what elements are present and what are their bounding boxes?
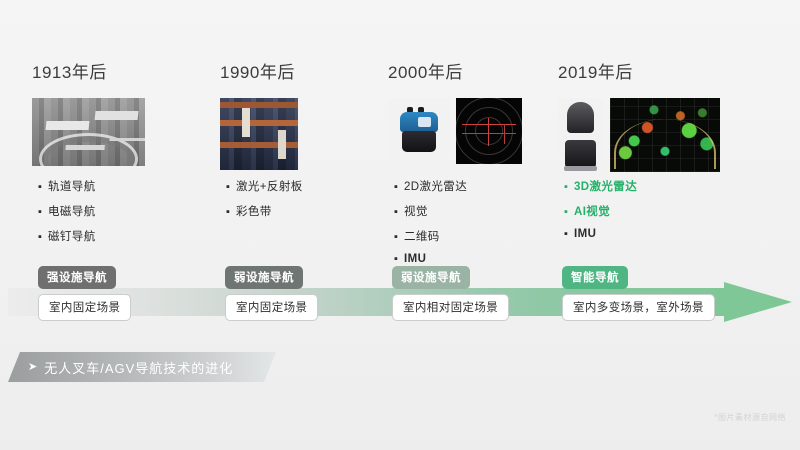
bullet-marker-icon: ▪ (394, 182, 404, 193)
section-banner: ➤ 无人叉车/AGV导航技术的进化 (8, 352, 276, 382)
list-item: ▪ 激光+反射板 (226, 178, 303, 194)
status-badge: 强设施导航 (38, 266, 116, 289)
column-bullet-list: ▪ 3D激光雷达 ▪ AI视觉 ▪ IMU (564, 178, 637, 249)
list-item: ▪ 磁钉导航 (38, 228, 96, 244)
list-item-label: 轨道导航 (48, 178, 96, 194)
bullet-marker-icon: ▪ (564, 207, 574, 218)
list-item: ▪ IMU (394, 253, 467, 265)
list-item: ▪ 3D激光雷达 (564, 178, 637, 194)
list-item-label: AI视觉 (574, 203, 610, 219)
bullet-marker-icon: ▪ (564, 182, 574, 193)
list-item: ▪ IMU (564, 228, 637, 240)
list-item: ▪ AI视觉 (564, 203, 637, 219)
list-item-label: 彩色带 (236, 203, 272, 219)
list-item: ▪ 彩色带 (226, 203, 303, 219)
bullet-marker-icon: ▪ (38, 182, 48, 193)
bullet-marker-icon: ▪ (226, 182, 236, 193)
image-credit-footnote: *图片素材源自网络 (714, 412, 786, 423)
scene-label: 室内多变场景，室外场景 (562, 294, 715, 321)
column-bullet-list: ▪ 轨道导航 ▪ 电磁导航 ▪ 磁钉导航 (38, 178, 96, 253)
list-item-label: 电磁导航 (48, 203, 96, 219)
bullet-marker-icon: ▪ (394, 254, 404, 265)
list-item: ▪ 2D激光雷达 (394, 178, 467, 194)
list-item-label: 二维码 (404, 228, 440, 244)
list-item-label: 3D激光雷达 (574, 178, 637, 194)
list-item: ▪ 视觉 (394, 203, 467, 219)
bullet-marker-icon: ▪ (394, 232, 404, 243)
list-item: ▪ 电磁导航 (38, 203, 96, 219)
list-item-label: IMU (574, 228, 596, 240)
scene-label: 室内固定场景 (38, 294, 131, 321)
bullet-marker-icon: ▪ (226, 207, 236, 218)
stage-tag-group: 强设施导航 室内固定场景 弱设施导航 室内固定场景 弱设施导航 室内相对固定场景… (0, 0, 800, 168)
bullet-marker-icon: ▪ (38, 232, 48, 243)
list-item-label: 磁钉导航 (48, 228, 96, 244)
stage-tag-2000: 弱设施导航 室内相对固定场景 (392, 266, 509, 321)
scene-label: 室内相对固定场景 (392, 294, 509, 321)
list-item: ▪ 轨道导航 (38, 178, 96, 194)
status-badge: 智能导航 (562, 266, 628, 289)
list-item-label: 视觉 (404, 203, 428, 219)
column-bullet-list: ▪ 2D激光雷达 ▪ 视觉 ▪ 二维码 ▪ IMU (394, 178, 467, 274)
slide-canvas: 1913年后 ▪ 轨道导航 ▪ 电磁导航 ▪ 磁钉导航 (0, 0, 800, 450)
arrow-right-icon: ➤ (28, 362, 37, 373)
bullet-marker-icon: ▪ (394, 207, 404, 218)
stage-tag-1913: 强设施导航 室内固定场景 (38, 266, 131, 321)
column-bullet-list: ▪ 激光+反射板 ▪ 彩色带 (226, 178, 303, 228)
stage-tag-1990: 弱设施导航 室内固定场景 (225, 266, 318, 321)
list-item-label: IMU (404, 253, 426, 265)
list-item-label: 2D激光雷达 (404, 178, 467, 194)
status-badge: 弱设施导航 (225, 266, 303, 289)
list-item-label: 激光+反射板 (236, 178, 303, 194)
scene-label: 室内固定场景 (225, 294, 318, 321)
banner-title: 无人叉车/AGV导航技术的进化 (44, 358, 233, 377)
stage-tag-2019: 智能导航 室内多变场景，室外场景 (562, 266, 715, 321)
bullet-marker-icon: ▪ (38, 207, 48, 218)
bullet-marker-icon: ▪ (564, 229, 574, 240)
list-item: ▪ 二维码 (394, 228, 467, 244)
status-badge: 弱设施导航 (392, 266, 470, 289)
